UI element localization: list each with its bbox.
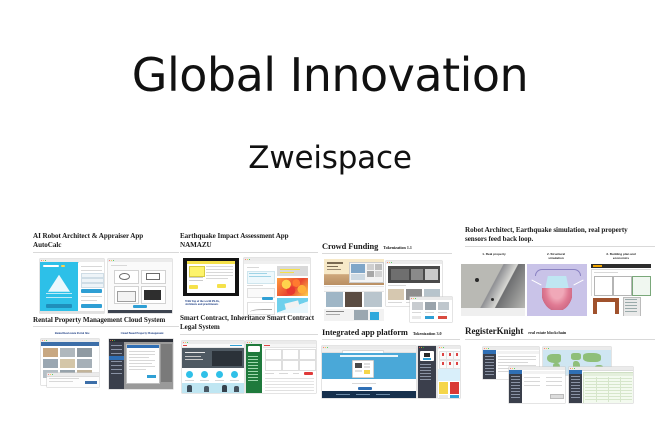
listing-image[interactable]: [43, 359, 58, 368]
panel-heading: Rental Property Management Cloud System: [33, 316, 179, 325]
hero-image: [182, 348, 244, 368]
screenshot-thumbnail[interactable]: [183, 258, 239, 296]
panel-heading: RegisterKnightreal estate blockchain: [465, 314, 655, 338]
listing-image[interactable]: [60, 348, 75, 357]
panel-heading: Earthquake Impact Assessment App NAMAZU: [180, 232, 318, 251]
panel-integrated-app-platform[interactable]: Integrated app platformTokenization 3.0: [322, 316, 460, 401]
content-strip: [322, 380, 416, 391]
status-tile[interactable]: [450, 382, 459, 394]
hero-banner: [324, 259, 384, 285]
tile[interactable]: [453, 360, 460, 369]
panel-caption: With Top of the world Ph.Ds, Architects …: [185, 300, 237, 308]
hero-banner: [322, 353, 416, 379]
page-subtitle: Zweispace: [0, 143, 660, 174]
feature-icon: [186, 371, 193, 378]
toolbar: [244, 261, 310, 264]
input-field[interactable]: [81, 283, 104, 288]
panel-sub-label: Tokenization 1.1: [383, 245, 412, 250]
panel-caption: Rental Real estate Portal Site: [43, 332, 101, 336]
site-header: [41, 342, 99, 346]
screenshot-thumbnail[interactable]: [591, 264, 651, 316]
map-preview: [277, 266, 308, 276]
plan-editor: [591, 269, 651, 297]
panel-grid: AI Robot Architect & Appraiser App AutoC…: [0, 218, 660, 398]
panel-body: Rental Real estate Portal Site Cloud Bas…: [33, 330, 179, 394]
app-titlebar: [187, 261, 235, 264]
panel-rule: [180, 252, 318, 253]
panel-heading: Integrated app platformTokenization 3.0: [322, 316, 460, 338]
tile[interactable]: [453, 351, 460, 360]
panel-smart-contract-inheritance[interactable]: Smart Contract, Inheritance Smart Contra…: [180, 314, 318, 396]
panel-heading-text: Integrated app platform: [322, 328, 408, 337]
button[interactable]: [450, 395, 459, 398]
panel-body: [180, 338, 318, 396]
footer-bar: [322, 391, 416, 398]
feature-icon: [201, 371, 208, 378]
step-caption-1: 1. Real property: [465, 252, 523, 256]
window-content: [438, 349, 460, 398]
alert-badge: [304, 372, 313, 375]
window-content: [47, 376, 99, 387]
preview-thumb: [117, 291, 136, 302]
divider: [249, 273, 267, 274]
panel-rule: [33, 326, 179, 327]
app-titlebar: [591, 264, 651, 268]
metric-card: [299, 360, 316, 371]
real-property-photo: [461, 264, 525, 316]
panel-register-knight[interactable]: RegisterKnightreal estate blockchain: [465, 314, 655, 405]
window-content: [244, 261, 310, 316]
window-content: [569, 370, 633, 403]
metric-card: [265, 360, 282, 371]
panel-rule: [322, 339, 460, 340]
metric-card: [282, 349, 299, 360]
listing-image[interactable]: [77, 359, 92, 368]
card-image: [425, 302, 436, 310]
right-pane: [161, 344, 172, 382]
listing-image[interactable]: [43, 348, 58, 357]
panel-body: [33, 256, 179, 316]
action-button[interactable]: [217, 284, 226, 288]
panel-ai-robot-architect[interactable]: AI Robot Architect & Appraiser App AutoC…: [33, 232, 179, 316]
screenshot-thumbnail-overlay[interactable]: [47, 373, 99, 387]
metric-card: [265, 349, 282, 360]
panel-earthquake-impact-namazu[interactable]: Earthquake Impact Assessment App NAMAZU: [180, 232, 318, 318]
step-caption-3: 3. Building plan and economics: [591, 252, 651, 260]
data-table: [265, 378, 314, 379]
gauge-icon: [119, 273, 130, 280]
panel-heading: Smart Contract, Inheritance Smart Contra…: [180, 314, 318, 333]
card: [420, 351, 434, 361]
screenshot-thumbnail[interactable]: [569, 367, 633, 403]
heatmap-image: [277, 278, 308, 296]
sidebar-nav[interactable]: [246, 344, 262, 393]
panel-rule: [465, 339, 655, 340]
divider: [249, 276, 271, 277]
panel-rule: [322, 253, 452, 254]
window-content: [182, 344, 244, 393]
map-image: [277, 298, 308, 313]
panel-body: 1. Real property 2. Structural simulatio…: [465, 250, 655, 320]
screenshot-thumbnail[interactable]: [324, 259, 384, 321]
form-pane: [522, 370, 565, 403]
window-content: [322, 349, 416, 398]
listing-image[interactable]: [77, 348, 92, 357]
page-title: Global Innovation: [0, 52, 660, 98]
spreadsheet-grid[interactable]: [583, 372, 633, 403]
panel-rental-property-management[interactable]: Rental Property Management Cloud System …: [33, 316, 179, 394]
screenshot-thumbnail[interactable]: [418, 346, 436, 398]
sidebar-active-item: [109, 356, 124, 360]
panel-rule: [180, 334, 318, 335]
card-image: [412, 302, 423, 310]
card-image: [438, 302, 449, 310]
inner-window: [187, 261, 235, 293]
screenshot-thumbnail[interactable]: [322, 346, 416, 398]
screenshot-thumbnail[interactable]: [246, 341, 316, 393]
sidebar-nav[interactable]: [483, 350, 496, 379]
screenshot-thumbnail[interactable]: [509, 367, 565, 403]
screenshot-thumbnail[interactable]: [438, 346, 460, 398]
panel-heading: AI Robot Architect & Appraiser App AutoC…: [33, 232, 179, 251]
metric-card: [282, 360, 299, 371]
status-tile[interactable]: [439, 382, 448, 394]
window-content: [418, 349, 436, 398]
listing-image[interactable]: [60, 359, 75, 368]
action-button[interactable]: [189, 285, 198, 289]
feature-icon: [216, 371, 223, 378]
panel-robot-architect-feedback-loop[interactable]: Robot Architect, Earthquake simulation, …: [465, 226, 655, 320]
divider: [189, 280, 203, 281]
panel-sub-label: Tokenization 3.0: [413, 331, 442, 336]
gallery-image[interactable]: [364, 292, 382, 307]
panel-body: [322, 257, 452, 323]
sidebar-nav[interactable]: [509, 370, 522, 403]
topbar: [263, 344, 316, 348]
window-content: [40, 262, 104, 313]
hero-image: [388, 266, 440, 283]
panel-body: [322, 343, 460, 401]
window-footer: [108, 310, 172, 313]
badge-mark: [61, 265, 65, 267]
window-content: [246, 344, 316, 393]
panel-heading-text: RegisterKnight: [465, 326, 523, 336]
gallery-image[interactable]: [345, 292, 362, 307]
panel-sub-label: real estate blockchain: [528, 330, 566, 335]
card-icon: [146, 273, 160, 280]
panel-rule: [465, 246, 655, 247]
feature-icon: [231, 371, 238, 378]
metric-card: [299, 349, 316, 360]
screenshot-thumbnail[interactable]: [109, 339, 173, 389]
panel-heading-text: Crowd Funding: [322, 242, 378, 251]
panel-caption: Cloud Based Property Management: [111, 332, 173, 336]
panel-body: [465, 343, 655, 405]
button[interactable]: [439, 395, 448, 398]
panel-heading: Crowd FundingTokenization 1.1: [322, 230, 452, 252]
button[interactable]: [550, 394, 564, 399]
step-caption-2: 2. Structural simulation: [527, 252, 585, 260]
window-content: [108, 262, 172, 313]
logo-mark: [43, 265, 59, 267]
section: [438, 369, 460, 381]
divider: [189, 277, 203, 278]
window-content: [109, 342, 173, 389]
sidebar-nav[interactable]: [569, 370, 582, 403]
screenshot-thumbnail[interactable]: [40, 259, 104, 313]
structural-simulation-image: [527, 264, 587, 316]
sidebar-nav[interactable]: [109, 342, 124, 389]
preview-thumb-dark: [144, 290, 161, 300]
panel-heading: Robot Architect, Earthquake simulation, …: [465, 226, 655, 245]
primary-button[interactable]: [262, 297, 273, 300]
card-image[interactable]: [388, 289, 404, 300]
dialog-window: [126, 344, 160, 384]
window-content: [509, 370, 565, 403]
divider: [46, 293, 72, 295]
screenshot-thumbnail[interactable]: [182, 341, 244, 393]
footer-image: [182, 383, 244, 393]
presentation-slide: Global Innovation Zweispace AI Robot Arc…: [0, 0, 660, 440]
screenshot-thumbnail[interactable]: [244, 258, 310, 316]
primary-button[interactable]: [133, 305, 147, 308]
window-footer: [40, 311, 104, 313]
gallery-image[interactable]: [326, 292, 343, 307]
building-render: [591, 296, 651, 316]
panel-crowd-funding[interactable]: Crowd FundingTokenization 1.1: [322, 230, 452, 323]
screenshot-thumbnail[interactable]: [108, 259, 172, 313]
divider: [46, 297, 72, 299]
chart-card: [247, 302, 275, 315]
submit-button[interactable]: [81, 304, 102, 308]
primary-button[interactable]: [46, 304, 72, 308]
submit-button[interactable]: [81, 289, 102, 293]
alert-box: [189, 266, 205, 277]
panel-rule: [33, 252, 179, 253]
panel-body: With Top of the world Ph.Ds, Architects …: [180, 256, 318, 318]
menu-list[interactable]: [420, 364, 431, 365]
